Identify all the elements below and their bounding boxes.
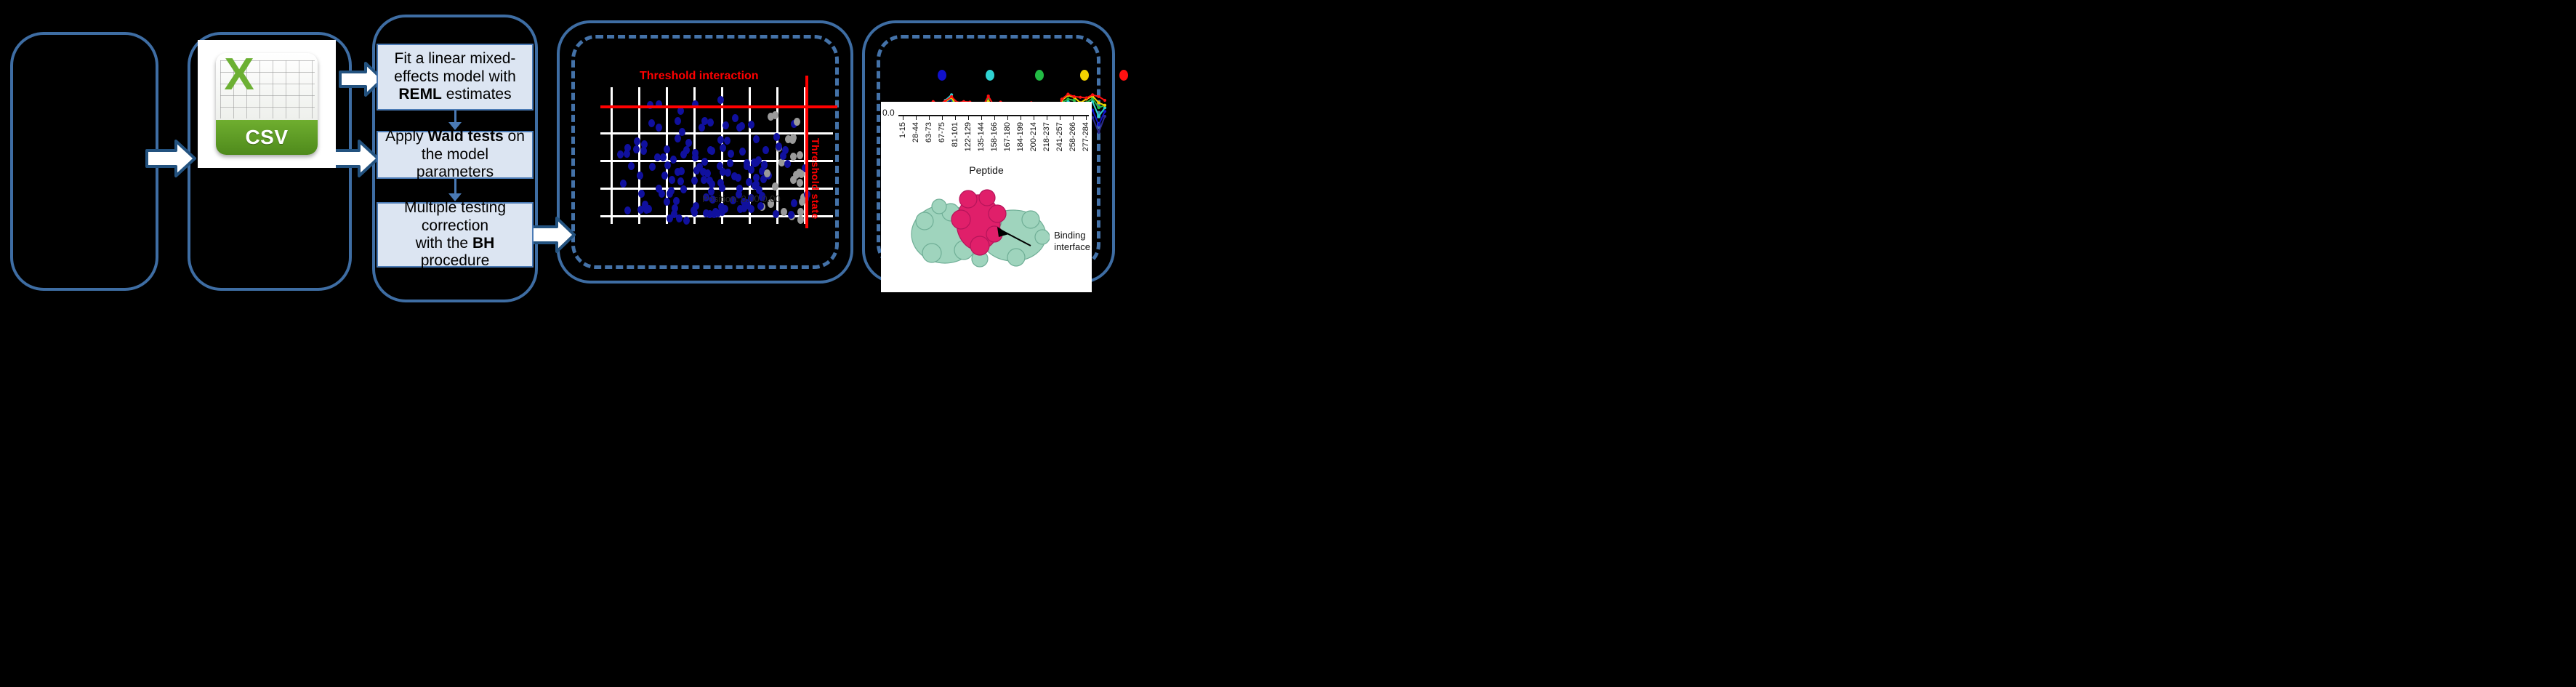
legend-dot-cyan <box>986 70 994 81</box>
structure-figure-card: 0.0 1-1528-4463-7367-7581-101122-129135-… <box>881 102 1092 292</box>
peptide-tick <box>981 115 982 120</box>
peptide-tick <box>916 115 917 120</box>
series-point <box>950 95 953 98</box>
series-point <box>1098 115 1100 118</box>
peptide-label: 258-266 <box>1068 122 1077 151</box>
peptide-label: 158-166 <box>990 122 999 151</box>
arrow-empty-to-csv <box>329 138 379 179</box>
step1-line2: effects model with <box>394 68 516 85</box>
threshold-interaction-line <box>600 105 837 108</box>
diagram-canvas: X CSV Fit a linear mixed- effects model … <box>0 0 2576 687</box>
scatter-plot: Threshold state Position: 0.00 0.00 <box>600 87 833 224</box>
scatter-position-readout: Position: 0.00 0.00 <box>702 193 781 204</box>
protein-structure-image <box>907 183 1050 278</box>
arrow-steps-to-scatter <box>529 216 576 254</box>
step2-post: on <box>504 128 525 145</box>
step3-bh: BH <box>472 235 494 252</box>
step3-post: procedure <box>421 252 490 269</box>
peptide-tick <box>1086 115 1087 120</box>
peptide-tick <box>994 115 995 120</box>
peptide-tick <box>955 115 956 120</box>
legend-dot-green <box>1035 70 1044 81</box>
threshold-state-line <box>805 76 808 228</box>
series-point <box>987 95 990 97</box>
peptide-label: 135-144 <box>977 122 986 151</box>
csv-label: CSV <box>245 126 288 149</box>
series-point <box>1091 93 1094 96</box>
peptide-label: 218-237 <box>1042 122 1051 151</box>
legend-dot-blue <box>938 70 946 81</box>
connector-step1-step2 <box>454 111 456 123</box>
connector-step2-step3 <box>454 179 456 194</box>
y-axis-zero-label: 0.0 <box>882 108 895 118</box>
peptide-tick <box>968 115 969 120</box>
csv-icon: X CSV <box>216 53 318 155</box>
peptide-tick <box>1007 115 1008 120</box>
legend-dot-red <box>1119 70 1128 81</box>
csv-band: CSV <box>216 120 318 155</box>
series-point <box>1060 97 1063 100</box>
excel-x-icon: X <box>219 55 259 95</box>
scatter-title: Threshold interaction <box>640 70 759 83</box>
peptide-label: 63-73 <box>925 122 933 142</box>
step3-line1: Multiple testing <box>404 199 506 216</box>
step2-pre: Apply <box>385 128 427 145</box>
series-point <box>1098 124 1100 126</box>
peptide-tick <box>1047 115 1047 120</box>
empty-panel <box>10 32 158 291</box>
series-point <box>1073 95 1076 98</box>
step1-line3rest: estimates <box>442 86 512 103</box>
peptide-tick <box>1060 115 1060 120</box>
peptide-label: 67-75 <box>938 122 946 142</box>
peptide-label: 200-214 <box>1029 122 1038 151</box>
series-point <box>1098 95 1100 98</box>
peptide-tick <box>942 115 943 120</box>
series-point <box>1066 92 1069 95</box>
peptide-label: 81-101 <box>951 122 959 147</box>
step3-line2: correction <box>422 217 488 234</box>
step1-reml: REML <box>398 86 442 103</box>
step1-line1: Fit a linear mixed- <box>395 50 516 67</box>
series-point <box>1098 101 1100 104</box>
step3-pre: with the <box>416 235 472 252</box>
arrow-into-empty-panel <box>145 138 196 179</box>
threshold-state-label: Threshold state <box>810 138 821 220</box>
peptide-tick <box>929 115 930 120</box>
peptide-axis-title: Peptide <box>881 164 1092 176</box>
peptide-label: 1-15 <box>898 122 907 138</box>
series-point <box>1079 96 1082 99</box>
connector-step1-step2-head <box>448 122 462 130</box>
series-point <box>1098 106 1100 109</box>
connector-step2-step3-head <box>448 193 462 201</box>
series-point <box>1103 99 1106 102</box>
peptide-tick <box>1021 115 1021 120</box>
peptide-tick <box>1034 115 1034 120</box>
series-point <box>1103 104 1106 107</box>
step2-line2: the model parameters <box>416 146 494 180</box>
peptide-tick <box>903 115 903 120</box>
binding-interface-label: Binding interface <box>1054 230 1090 252</box>
peptide-label: 277-284 <box>1082 122 1090 151</box>
peptide-label: 184-199 <box>1016 122 1025 151</box>
step-box-fit-model[interactable]: Fit a linear mixed- effects model with R… <box>377 44 534 111</box>
step-box-bh-correction[interactable]: Multiple testing correction with the BH … <box>377 202 534 268</box>
step2-wald: Wald tests <box>427 128 503 145</box>
peptide-tick <box>1073 115 1074 120</box>
series-point <box>1098 131 1100 134</box>
legend-dot-yellow <box>1080 70 1089 81</box>
csv-file-icon-card: X CSV <box>198 40 336 168</box>
peptide-label: 167-180 <box>1003 122 1012 151</box>
peptide-label: 28-44 <box>911 122 920 142</box>
peptide-label: 122-129 <box>964 122 973 151</box>
step-box-wald-tests[interactable]: Apply Wald tests on the model parameters <box>377 131 534 179</box>
series-point <box>1066 97 1069 100</box>
peptide-label: 241-257 <box>1055 122 1064 151</box>
series-point <box>1085 97 1088 100</box>
